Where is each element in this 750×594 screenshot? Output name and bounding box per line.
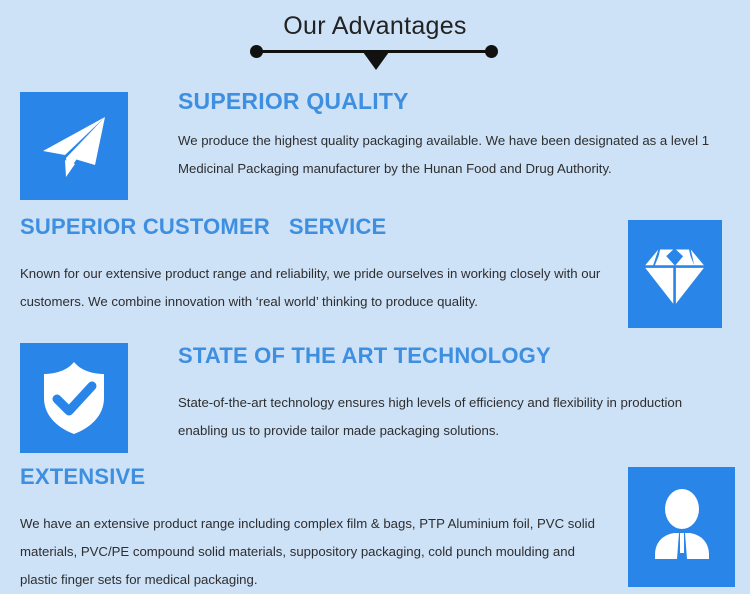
section-title: EXTENSIVE <box>20 464 610 490</box>
section-body: We produce the highest quality packaging… <box>178 127 728 183</box>
section-text: SUPERIOR QUALITY We produce the highest … <box>178 88 728 183</box>
section-text: EXTENSIVE We have an extensive product r… <box>20 464 610 594</box>
section-body: We have an extensive product range inclu… <box>20 510 610 594</box>
section-title: STATE OF THE ART TECHNOLOGY <box>178 343 730 369</box>
divider-dot-right <box>485 45 498 58</box>
section-text: STATE OF THE ART TECHNOLOGY State-of-the… <box>178 343 730 445</box>
section-body: Known for our extensive product range an… <box>20 260 610 316</box>
businessperson-icon <box>628 467 735 587</box>
down-caret-icon <box>363 52 389 70</box>
shield-check-icon <box>20 343 128 453</box>
section-title: SUPERIOR CUSTOMER SERVICE <box>20 214 610 240</box>
page-header: Our Advantages <box>0 0 750 80</box>
paper-plane-icon <box>20 92 128 200</box>
page-title: Our Advantages <box>0 12 750 41</box>
diamond-icon <box>628 220 722 328</box>
section-title: SUPERIOR QUALITY <box>178 88 728 115</box>
section-text: SUPERIOR CUSTOMER SERVICE Known for our … <box>20 214 610 316</box>
section-body: State-of-the-art technology ensures high… <box>178 389 730 445</box>
